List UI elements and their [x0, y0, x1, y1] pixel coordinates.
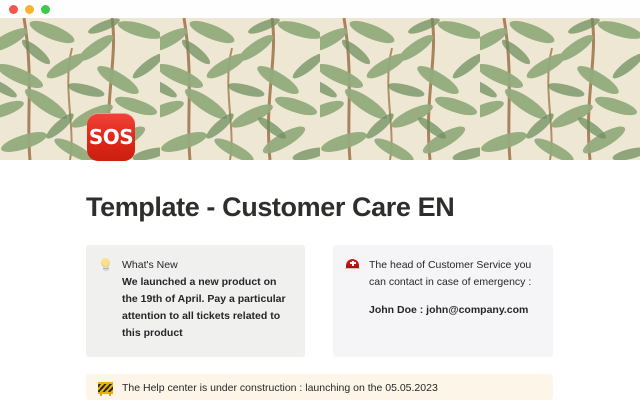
banner-text: The Help center is under construction : … [122, 380, 438, 396]
rescue-worker-helmet-icon [345, 258, 360, 273]
callout-whats-new[interactable]: What's New We launched a new product on … [86, 245, 305, 357]
page-title[interactable]: Template - Customer Care EN [86, 192, 640, 223]
callout-emergency-body: The head of Customer Service you can con… [369, 257, 539, 319]
callout-help-center-banner[interactable]: The Help center is under construction : … [86, 374, 553, 400]
window-close-button[interactable] [9, 5, 18, 14]
callout-emergency-text: The head of Customer Service you can con… [369, 257, 539, 291]
light-bulb-icon [98, 258, 113, 273]
page-content: Template - Customer Care EN What's New W… [0, 160, 640, 357]
page-icon[interactable]: SOS [87, 113, 135, 161]
callout-whats-new-heading: What's New [122, 257, 291, 274]
callout-row: What's New We launched a new product on … [86, 245, 553, 357]
sos-emoji-icon: SOS [87, 113, 135, 161]
notion-page-window: SOS Template - Customer Care EN What's N… [0, 0, 640, 400]
window-titlebar [0, 0, 640, 18]
callout-whats-new-body: What's New We launched a new product on … [122, 257, 291, 342]
sos-emoji-label: SOS [89, 127, 133, 147]
callout-emergency-contact-line: John Doe : john@company.com [369, 302, 539, 319]
construction-barrier-icon [98, 381, 113, 396]
window-maximize-button[interactable] [41, 5, 50, 14]
callout-whats-new-text: We launched a new product on the 19th of… [122, 274, 291, 342]
callout-emergency-contact[interactable]: The head of Customer Service you can con… [333, 245, 553, 357]
window-minimize-button[interactable] [25, 5, 34, 14]
callout-spacer [369, 291, 539, 302]
